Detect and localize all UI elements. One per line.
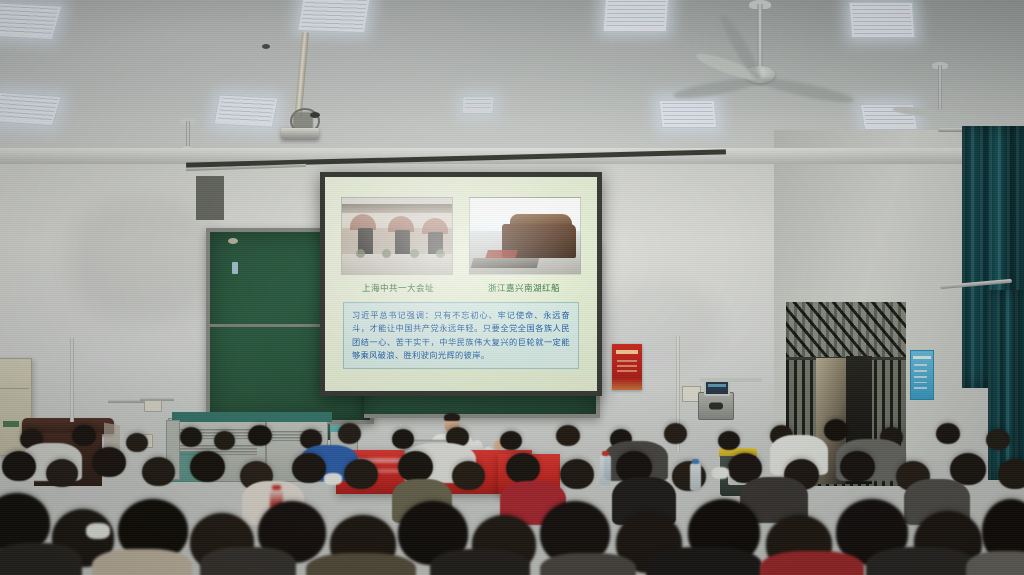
audience-shoulders bbox=[306, 553, 416, 575]
slide-content: 上海中共一大会址 浙江嘉兴南湖红船 习近平总书记强调：只有不忘初心、牢记使命、永… bbox=[325, 177, 597, 391]
audience-head bbox=[936, 423, 960, 444]
ceiling-fan bbox=[880, 62, 1000, 124]
audience-head bbox=[292, 453, 326, 483]
slide-caption-left: 上海中共一大会址 bbox=[343, 282, 453, 294]
audience-head bbox=[560, 459, 594, 489]
panel-light bbox=[297, 0, 370, 33]
audience-head bbox=[190, 451, 225, 482]
audience-shoulders bbox=[966, 551, 1024, 575]
audience-shoulders bbox=[200, 547, 296, 575]
slide-quote-text: 习近平总书记强调：只有不忘初心、牢记使命、永远奋斗，才能让中国共产党永远年轻。只… bbox=[352, 309, 570, 362]
panel-light bbox=[0, 92, 62, 126]
face-mask bbox=[324, 473, 342, 485]
audience-head bbox=[392, 429, 414, 449]
slide-caption-row: 上海中共一大会址 浙江嘉兴南湖红船 bbox=[339, 282, 583, 294]
audience-shoulders bbox=[92, 549, 192, 575]
audience-head bbox=[2, 451, 36, 481]
panel-light bbox=[462, 96, 495, 114]
audience-shoulders bbox=[866, 547, 976, 575]
wall-switch[interactable] bbox=[144, 400, 162, 412]
chalk bbox=[232, 262, 238, 274]
audience-head bbox=[180, 427, 202, 447]
ceiling-fitting bbox=[310, 112, 320, 118]
gate-transom bbox=[786, 302, 906, 360]
audience-head bbox=[506, 453, 540, 483]
wall-pipe bbox=[70, 338, 74, 422]
audience-head bbox=[718, 431, 740, 450]
fan-blade bbox=[939, 110, 992, 125]
face-mask bbox=[86, 523, 110, 539]
audience-head bbox=[142, 457, 175, 486]
panel-light bbox=[0, 2, 62, 40]
ceiling-fitting bbox=[262, 44, 270, 49]
projector bbox=[281, 128, 319, 139]
slide-quote-box: 习近平总书记强调：只有不忘初心、牢记使命、永远奋斗，才能让中国共产党永远年轻。只… bbox=[343, 302, 579, 369]
slide-image-row bbox=[339, 197, 583, 275]
wall-notice-blue bbox=[910, 350, 934, 400]
control-display bbox=[704, 380, 730, 396]
audience-head bbox=[46, 459, 78, 487]
red-boat-photo bbox=[469, 197, 581, 275]
audience-head bbox=[664, 423, 687, 444]
face-mask bbox=[712, 467, 729, 479]
audience-head bbox=[92, 447, 126, 477]
audience-shoulders bbox=[430, 549, 530, 575]
lecture-hall-photo: 上海中共一大会址 浙江嘉兴南湖红船 习近平总书记强调：只有不忘初心、牢记使命、永… bbox=[0, 0, 1024, 575]
audience-shoulders bbox=[540, 553, 636, 575]
water-bottle bbox=[600, 455, 611, 485]
audience-head bbox=[452, 461, 485, 490]
wall-poster-red bbox=[612, 344, 642, 390]
projection-screen: 上海中共一大会址 浙江嘉兴南湖红船 习近平总书记强调：只有不忘初心、牢记使命、永… bbox=[325, 177, 597, 391]
audience-head bbox=[72, 425, 96, 446]
audience-shoulders bbox=[646, 547, 762, 575]
audience-head bbox=[126, 433, 148, 452]
audience-head bbox=[998, 459, 1024, 489]
audience-head bbox=[398, 451, 433, 482]
chalk bbox=[228, 238, 238, 244]
projection-screen-frame: 上海中共一大会址 浙江嘉兴南湖红船 习近平总书记强调：只有不忘初心、牢记使命、永… bbox=[320, 172, 602, 396]
slide-caption-right: 浙江嘉兴南湖红船 bbox=[469, 282, 579, 294]
fan-blade bbox=[759, 74, 856, 107]
audience-head bbox=[344, 459, 378, 489]
audience-head bbox=[556, 425, 580, 446]
audience-head bbox=[214, 431, 235, 450]
audience-head bbox=[500, 431, 522, 450]
audience-shoulders bbox=[0, 543, 82, 575]
shikumen-house-photo bbox=[341, 197, 453, 275]
audience bbox=[0, 415, 1024, 575]
wall-shelf bbox=[700, 378, 762, 382]
audience-head bbox=[986, 429, 1010, 450]
audience-head bbox=[248, 425, 272, 446]
audience-head bbox=[338, 423, 361, 444]
audience-head bbox=[840, 451, 875, 482]
water-bottle bbox=[690, 463, 701, 491]
wall-conduit bbox=[196, 176, 224, 220]
ceiling-fan bbox=[660, 0, 860, 110]
audience-shoulders bbox=[760, 551, 864, 575]
audience-head bbox=[824, 419, 848, 441]
